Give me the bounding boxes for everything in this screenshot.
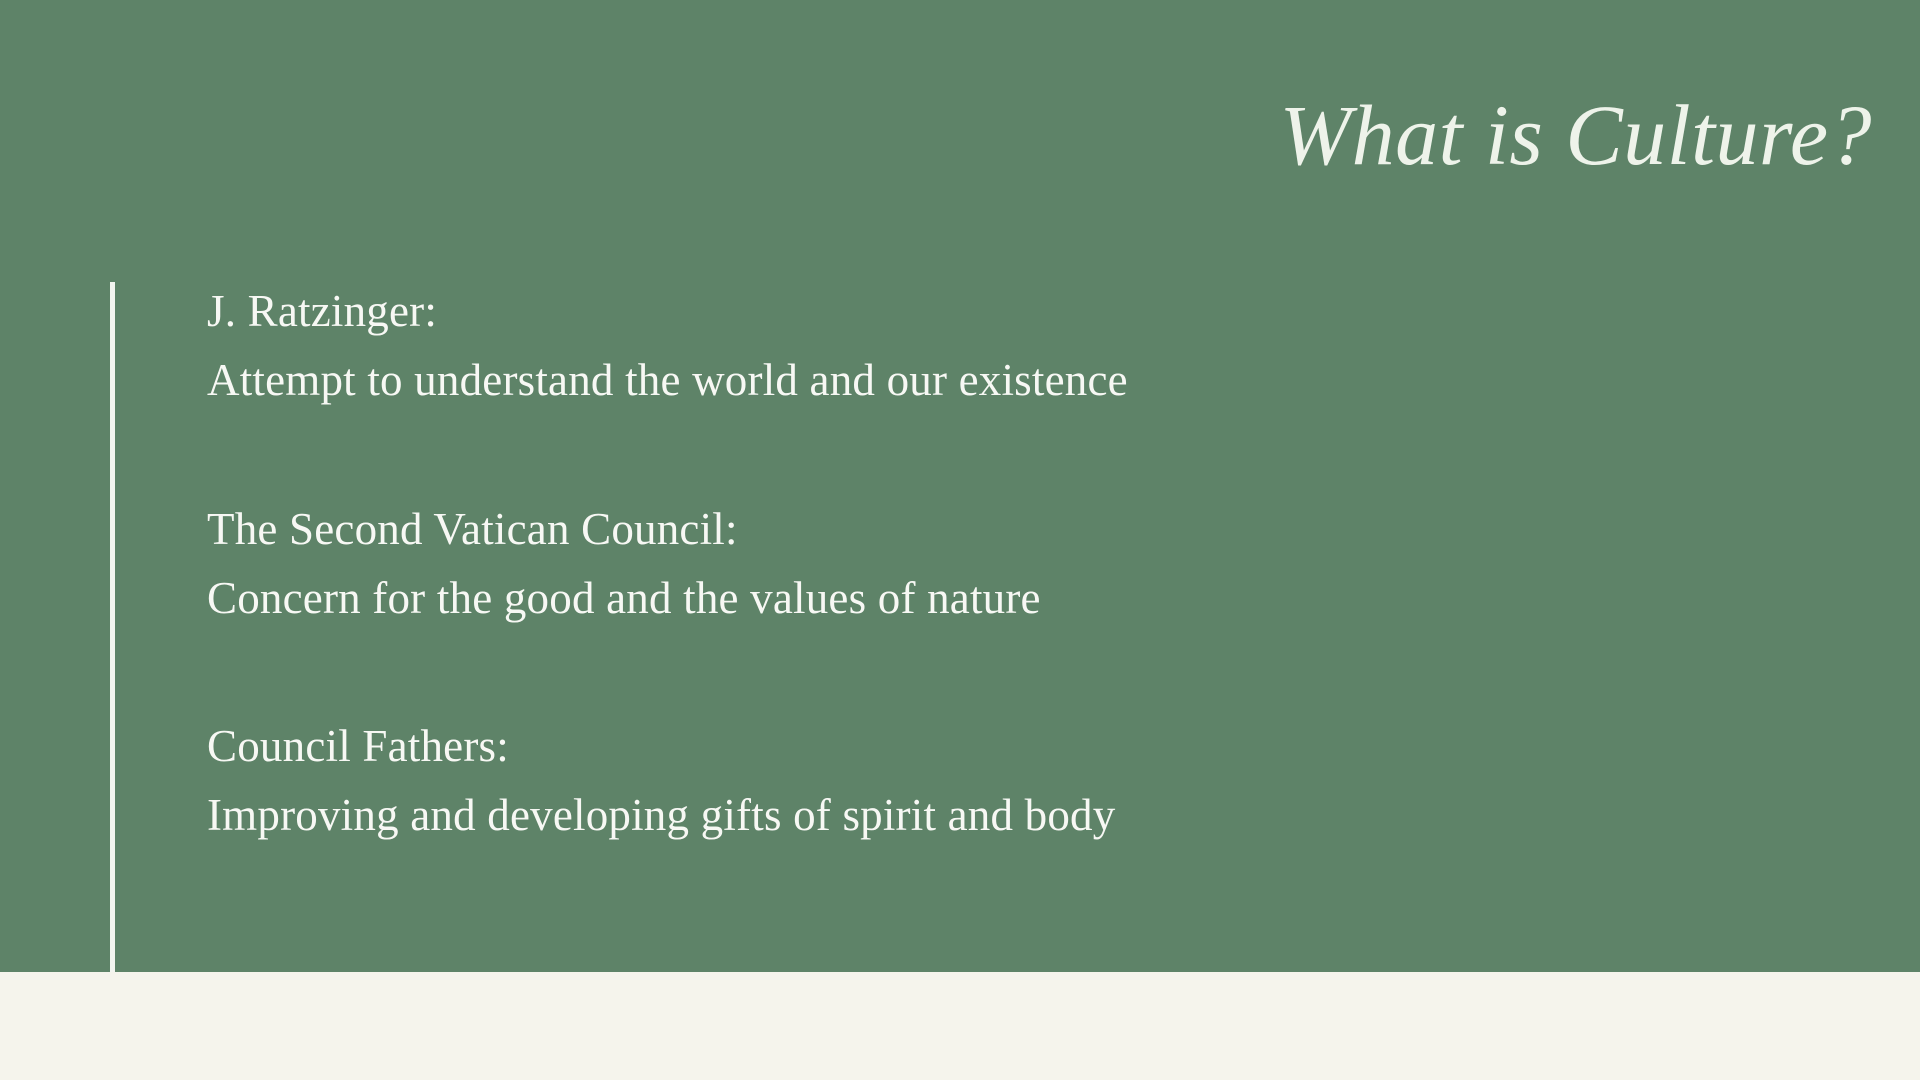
slide-body: J. Ratzinger: Attempt to understand the … [207,277,1767,850]
accent-rule [110,282,115,972]
content-group-detail: Improving and developing gifts of spirit… [207,781,1767,850]
content-group-heading: The Second Vatican Council: [207,495,1767,564]
footer-band [0,972,1920,1080]
content-group: J. Ratzinger: Attempt to understand the … [207,277,1767,415]
presentation-slide: What is Culture? J. Ratzinger: Attempt t… [0,0,1920,1080]
content-group-heading: J. Ratzinger: [207,277,1767,346]
content-group-detail: Concern for the good and the values of n… [207,564,1767,633]
content-group: The Second Vatican Council: Concern for … [207,495,1767,633]
content-group-detail: Attempt to understand the world and our … [207,346,1767,415]
content-group-heading: Council Fathers: [207,712,1767,781]
content-group: Council Fathers: Improving and developin… [207,712,1767,850]
slide-title: What is Culture? [472,92,1872,178]
